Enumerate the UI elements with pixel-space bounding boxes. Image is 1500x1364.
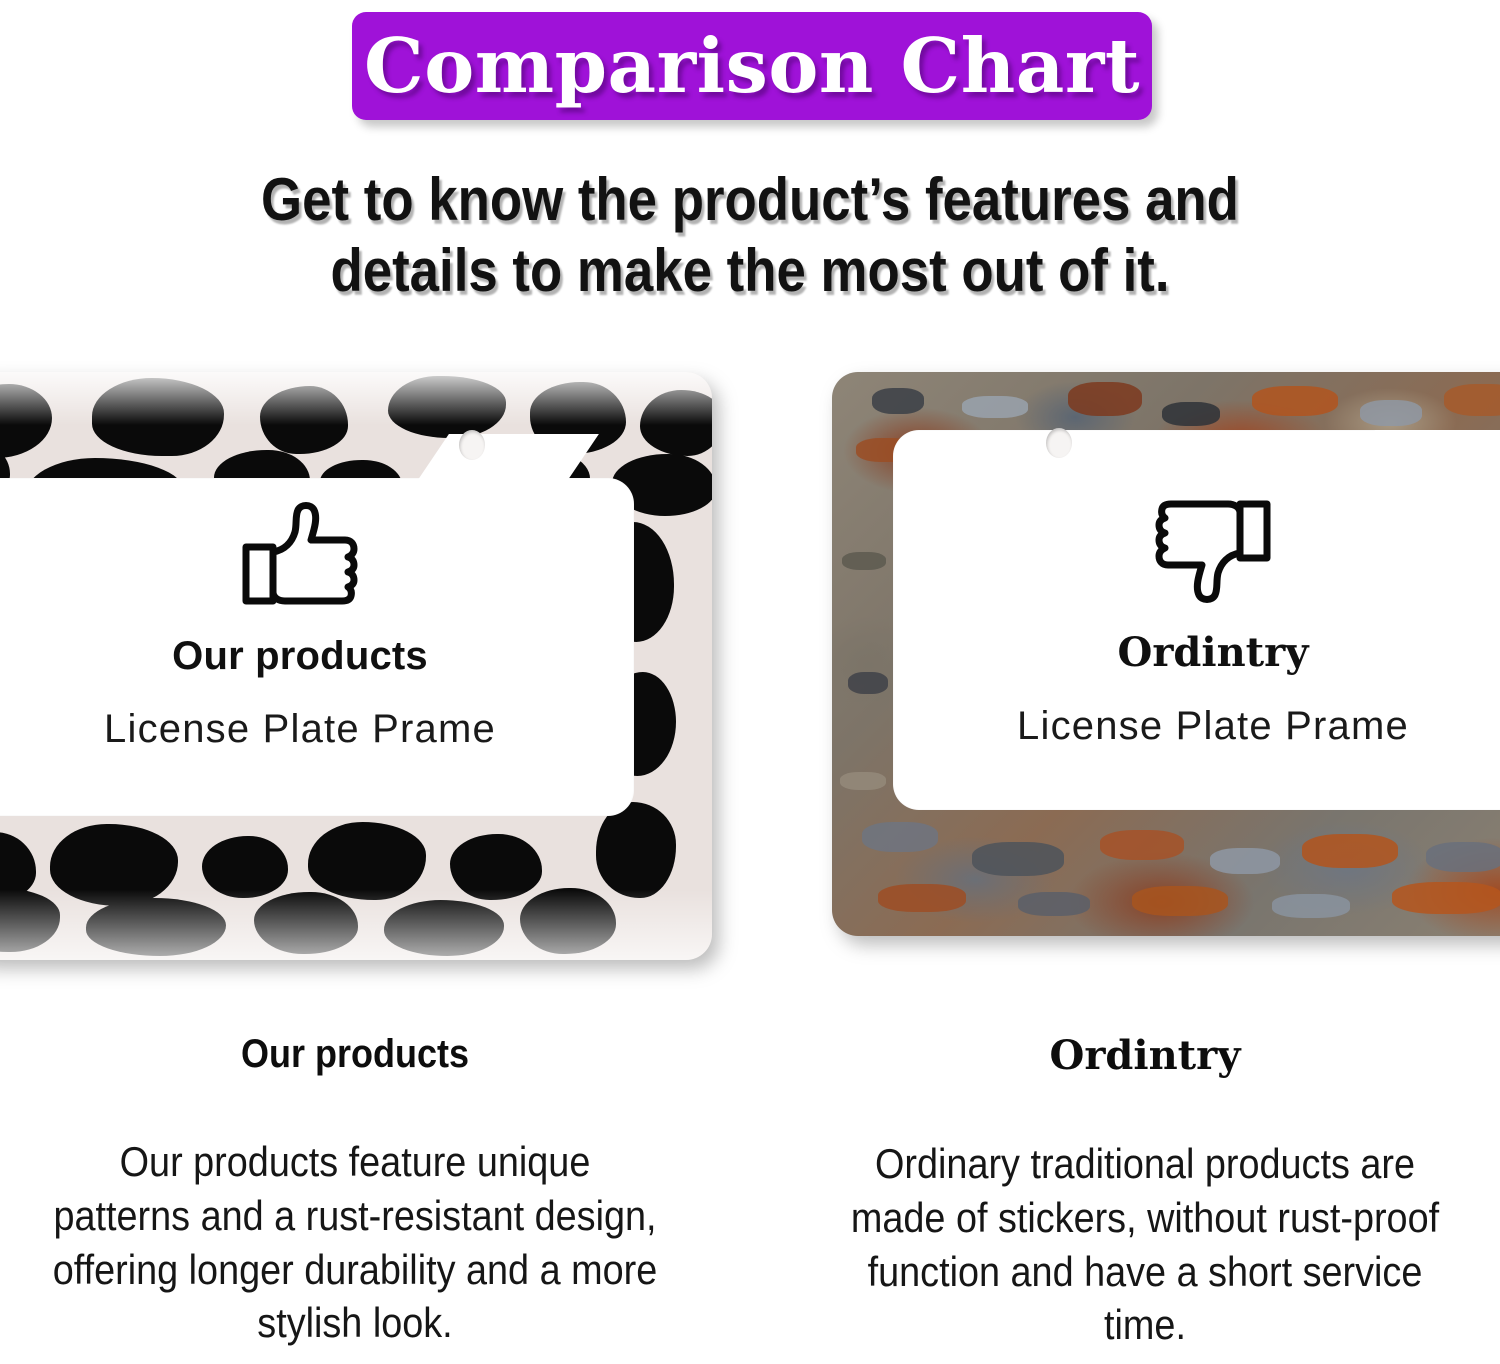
column-heading-ordinary: Ordintry <box>785 1032 1500 1079</box>
title-banner: Comparison Chart <box>352 12 1152 120</box>
column-body-ours: Our products feature unique patterns and… <box>31 1135 679 1350</box>
column-heading-ours: Our products <box>31 1032 679 1077</box>
thumbs-up-icon <box>241 500 359 610</box>
plate-content-ours: Our products License Plate Prame <box>0 500 600 752</box>
plate-sublabel-ordinary: License Plate Prame <box>893 704 1500 749</box>
plate-sublabel-ours: License Plate Prame <box>0 707 600 752</box>
plate-brand-label-ordinary: Ordintry <box>893 629 1500 676</box>
page-title: Comparison Chart <box>364 29 1140 104</box>
plate-brand-label-ours: Our products <box>0 634 600 679</box>
description-column-ours: Our products Our products feature unique… <box>0 1032 715 1350</box>
description-column-ordinary: Ordintry Ordinary traditional products a… <box>785 1032 1500 1352</box>
thumbs-down-icon <box>1154 495 1272 605</box>
column-body-ordinary: Ordinary traditional products are made o… <box>821 1137 1469 1352</box>
mounting-hole-ours <box>459 430 485 460</box>
comparison-chart-page: Comparison Chart Get to know the product… <box>0 0 1500 1364</box>
subtitle-text: Get to know the product’s features and d… <box>187 165 1313 307</box>
mounting-hole-ordinary <box>1046 428 1072 458</box>
plate-content-ordinary: Ordintry License Plate Prame <box>893 495 1500 749</box>
